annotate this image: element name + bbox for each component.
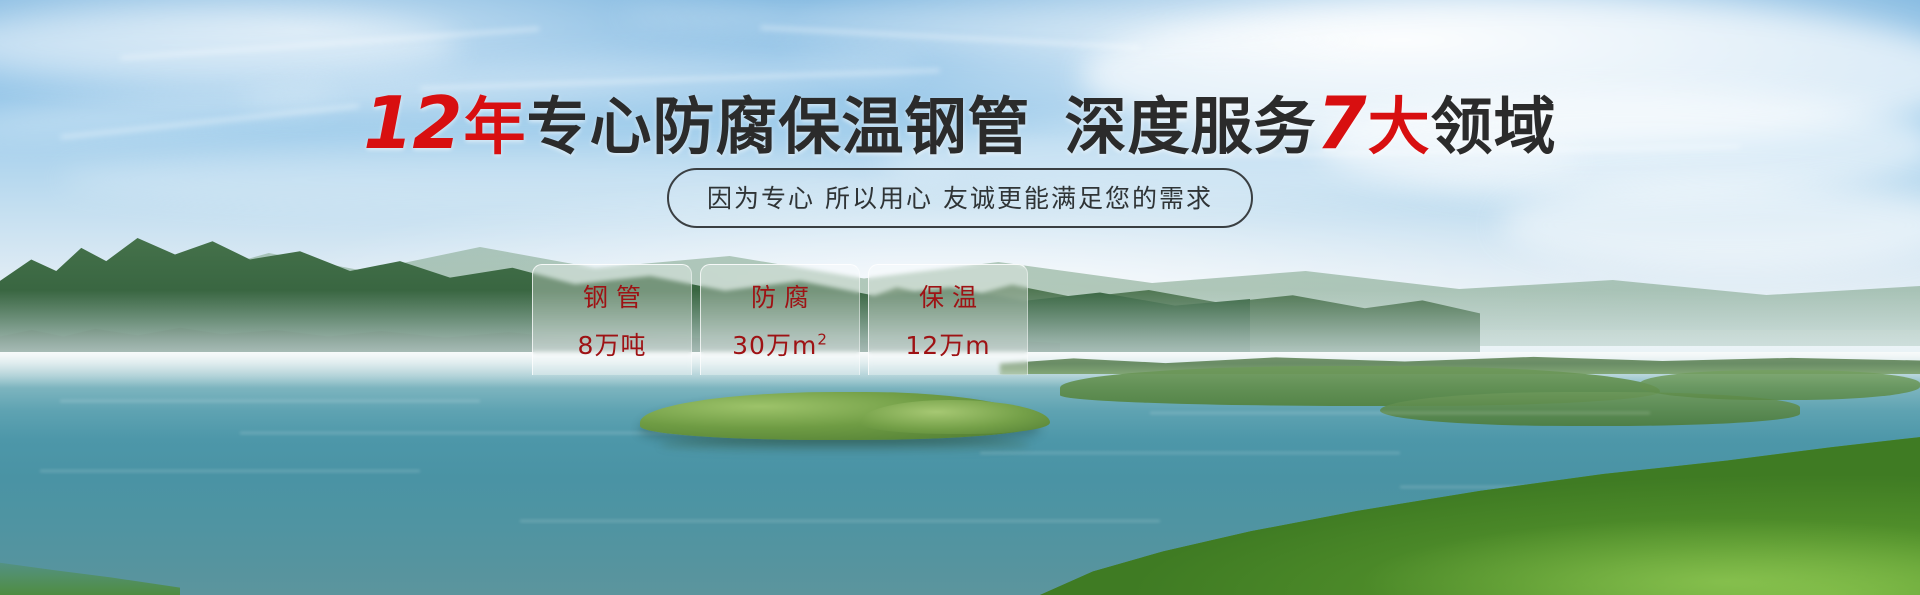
headline-lead-unit: 年 xyxy=(464,90,527,163)
stat-card-anticorrosion: 防腐 30万m2 xyxy=(700,264,860,375)
stat-card-title: 钢管 xyxy=(575,278,649,314)
hero-banner: 12年专心防腐保温钢管深度服务7大领域 因为专心 所以用心 友诚更能满足您的需求… xyxy=(0,0,1920,595)
stat-card-steel-pipe: 钢管 8万吨 xyxy=(532,264,692,375)
banner-headline: 12年专心防腐保温钢管深度服务7大领域 xyxy=(0,86,1920,162)
stat-card-value: 12万m xyxy=(905,326,990,362)
stat-card-insulation: 保温 12万m xyxy=(868,264,1028,375)
banner-subtitle-wrap: 因为专心 所以用心 友诚更能满足您的需求 xyxy=(0,168,1920,228)
stat-card-value-text: 12万m xyxy=(905,331,990,360)
stat-card-value-text: 8万吨 xyxy=(578,331,647,360)
headline-second-text: 深度服务 xyxy=(1065,90,1317,163)
stat-card-value: 30万m2 xyxy=(732,326,828,362)
stat-card-title: 保温 xyxy=(911,278,985,314)
headline-tail-text: 领域 xyxy=(1431,90,1557,163)
stat-card-group: 钢管 8万吨 防腐 30万m2 保温 12万m xyxy=(532,264,1028,375)
headline-main-text: 专心防腐保温钢管 xyxy=(527,90,1031,163)
stat-card-value-sup: 2 xyxy=(817,331,828,349)
headline-lead-number: 12 xyxy=(363,81,463,165)
stat-card-value-text: 30万m xyxy=(732,331,817,360)
headline-accent-unit: 大 xyxy=(1368,90,1431,163)
stat-card-value: 8万吨 xyxy=(578,326,647,362)
stat-card-title: 防腐 xyxy=(743,278,817,314)
banner-subtitle-pill: 因为专心 所以用心 友诚更能满足您的需求 xyxy=(667,168,1253,228)
headline-accent-number: 7 xyxy=(1317,81,1368,165)
banner-content: 12年专心防腐保温钢管深度服务7大领域 因为专心 所以用心 友诚更能满足您的需求… xyxy=(0,0,1920,595)
